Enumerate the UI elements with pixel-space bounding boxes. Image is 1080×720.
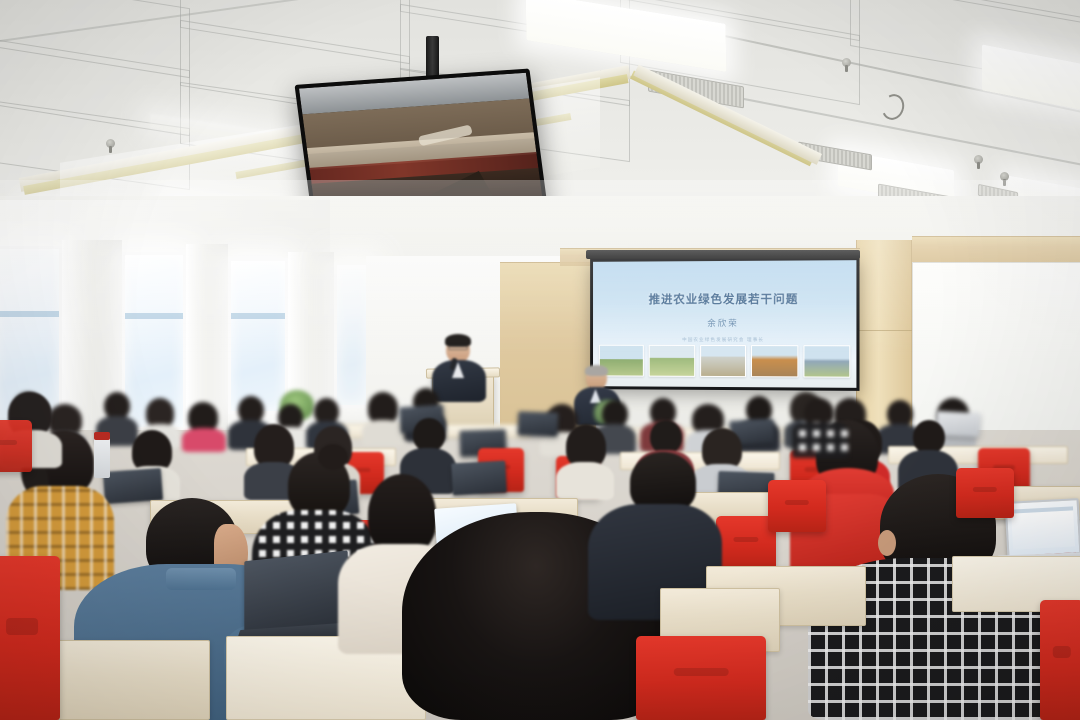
chair[interactable]: [1040, 600, 1080, 720]
water-bottle[interactable]: [94, 436, 110, 478]
hair-bun: [318, 444, 348, 470]
bottle-cap: [94, 432, 110, 440]
slide-affiliation: 中国农业绿色发展研究会 理事长: [593, 337, 856, 343]
laptop[interactable]: [518, 411, 559, 436]
sprinkler-head: [842, 58, 851, 67]
laptop-screen-content: [1011, 506, 1075, 549]
chair[interactable]: [0, 420, 32, 472]
slide-surface: 推进农业绿色发展若干问题 余欣荣 中国农业绿色发展研究会 理事长: [593, 260, 856, 388]
slide-thumbnail-row: [599, 345, 850, 378]
audience-member: [182, 402, 226, 450]
hair: [630, 452, 696, 512]
sprinkler-head: [106, 139, 115, 148]
ear: [878, 530, 896, 556]
window: [228, 258, 288, 414]
collar: [166, 568, 236, 590]
chair[interactable]: [716, 516, 776, 570]
audience-member: [362, 392, 404, 444]
chair[interactable]: [956, 468, 1014, 518]
audience-member: [792, 398, 848, 456]
slide-thumbnail: [803, 345, 850, 378]
sprinkler-head: [1000, 172, 1009, 181]
ceiling-conduit-loop: [879, 91, 908, 123]
speaker-glasses: [448, 346, 468, 350]
guest-hair: [585, 365, 608, 376]
wood-wall-panel: [912, 236, 1080, 262]
slide-thumbnail: [751, 345, 798, 377]
slide-title: 推进农业绿色发展若干问题: [593, 291, 856, 308]
chair[interactable]: [768, 480, 826, 532]
chair[interactable]: [0, 556, 60, 720]
screen-roller-housing: [586, 250, 860, 259]
slide-presenter: 余欣荣: [593, 317, 856, 329]
window: [334, 262, 370, 408]
projection-screen: 推进农业绿色发展若干问题 余欣荣 中国农业绿色发展研究会 理事长: [590, 257, 859, 391]
slide-thumbnail: [700, 345, 746, 377]
chair[interactable]: [636, 636, 766, 720]
slide-thumbnail: [649, 345, 695, 377]
sprinkler-head: [974, 155, 983, 164]
lecture-hall-photo: 推进农业绿色发展若干问题 余欣荣 中国农业绿色发展研究会 理事长: [0, 0, 1080, 720]
